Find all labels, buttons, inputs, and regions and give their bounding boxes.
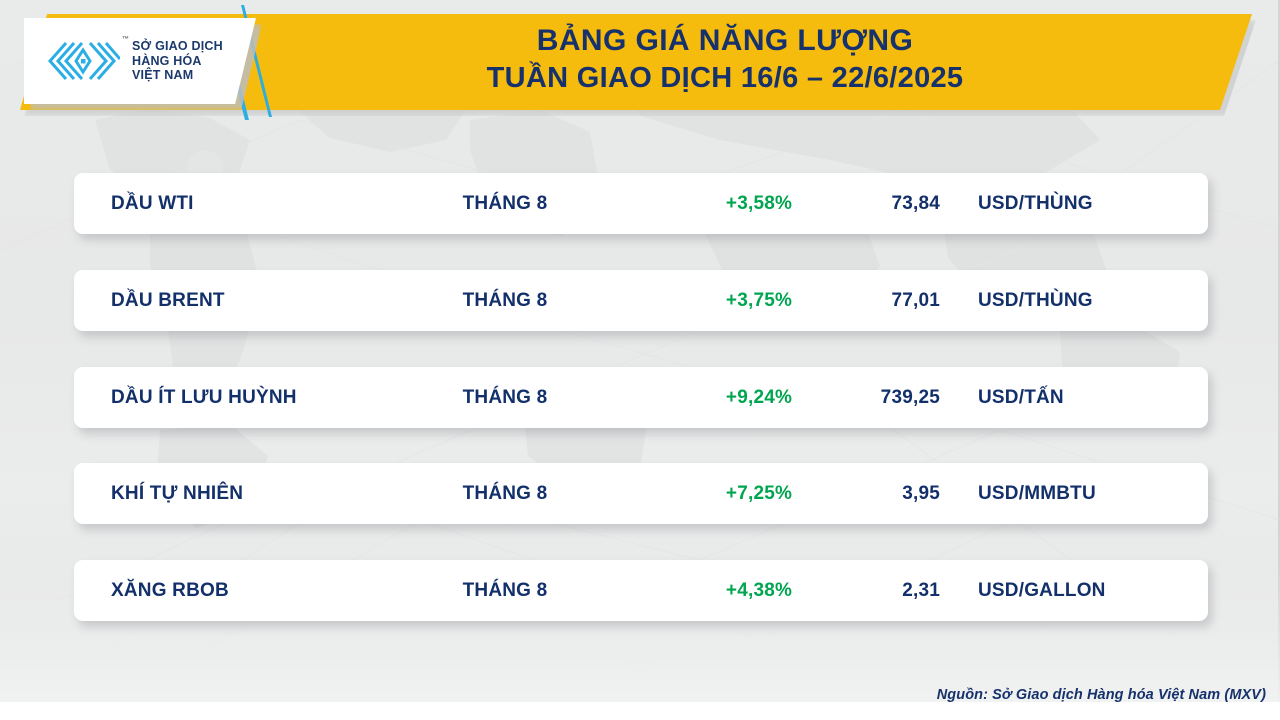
contract-month: THÁNG 8	[410, 290, 600, 312]
commodity-name: DẦU BRENT	[111, 290, 225, 312]
price-unit: USD/THÙNG	[978, 290, 1093, 312]
logo-line-3: VIỆT NAM	[132, 68, 223, 83]
source-note: Nguồn: Sở Giao dịch Hàng hóa Việt Nam (M…	[937, 687, 1266, 703]
price-value: 2,31	[774, 580, 940, 602]
price-value: 77,01	[774, 290, 940, 312]
table-row[interactable]: KHÍ TỰ NHIÊNTHÁNG 8+7,25%3,95USD/MMBTU	[74, 463, 1208, 524]
header-banner: ™ SỞ GIAO DỊCH HÀNG HÓA VIỆT NAM BẢNG GI…	[0, 0, 1280, 118]
logo-wordmark: SỞ GIAO DỊCH HÀNG HÓA VIỆT NAM	[132, 39, 223, 83]
commodity-name: DẦU WTI	[111, 193, 194, 215]
price-unit: USD/THÙNG	[978, 193, 1093, 215]
logo-card: ™ SỞ GIAO DỊCH HÀNG HÓA VIỆT NAM	[24, 18, 256, 104]
trademark-symbol: ™	[122, 36, 129, 43]
commodity-name: KHÍ TỰ NHIÊN	[111, 483, 243, 505]
title-line-2: TUẦN GIAO DỊCH 16/6 – 22/6/2025	[330, 60, 1120, 97]
price-value: 3,95	[774, 483, 940, 505]
contract-month: THÁNG 8	[410, 580, 600, 602]
mxv-chevron-logo-icon	[46, 40, 120, 82]
background-bottom-strip	[0, 702, 1280, 720]
page-title: BẢNG GIÁ NĂNG LƯỢNG TUẦN GIAO DỊCH 16/6 …	[330, 22, 1120, 97]
price-value: 73,84	[774, 193, 940, 215]
commodity-name: XĂNG RBOB	[111, 580, 229, 602]
table-row[interactable]: XĂNG RBOBTHÁNG 8+4,38%2,31USD/GALLON	[74, 560, 1208, 621]
price-unit: USD/TẤN	[978, 387, 1064, 409]
title-line-1: BẢNG GIÁ NĂNG LƯỢNG	[330, 22, 1120, 60]
contract-month: THÁNG 8	[410, 483, 600, 505]
logo-line-1: SỞ GIAO DỊCH	[132, 39, 223, 54]
price-unit: USD/GALLON	[978, 580, 1106, 602]
table-row[interactable]: DẦU ÍT LƯU HUỲNHTHÁNG 8+9,24%739,25USD/T…	[74, 367, 1208, 428]
price-unit: USD/MMBTU	[978, 483, 1096, 505]
table-row[interactable]: DẦU BRENTTHÁNG 8+3,75%77,01USD/THÙNG	[74, 270, 1208, 331]
logo-line-2: HÀNG HÓA	[132, 54, 223, 69]
contract-month: THÁNG 8	[410, 387, 600, 409]
table-row[interactable]: DẦU WTITHÁNG 8+3,58%73,84USD/THÙNG	[74, 173, 1208, 234]
price-value: 739,25	[774, 387, 940, 409]
contract-month: THÁNG 8	[410, 193, 600, 215]
commodity-name: DẦU ÍT LƯU HUỲNH	[111, 387, 297, 409]
